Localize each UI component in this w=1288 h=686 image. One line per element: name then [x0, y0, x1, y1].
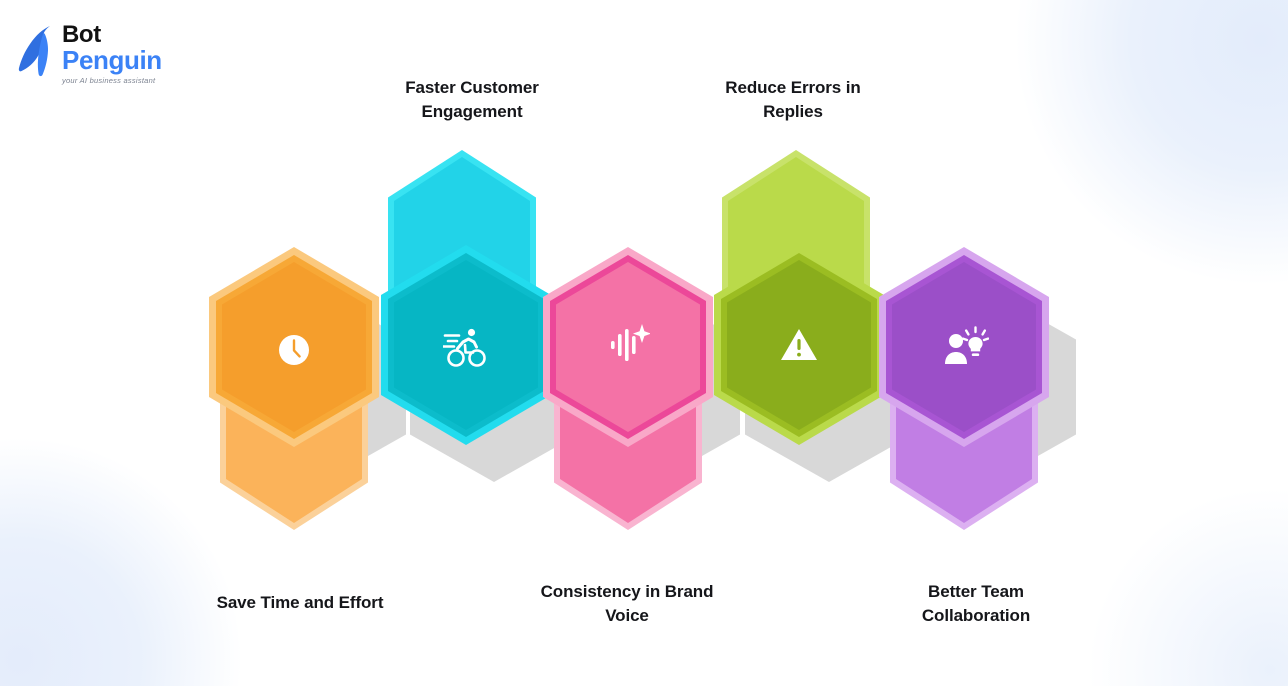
hexagon-cluster: Save Time and Effort Fas — [0, 0, 1288, 686]
benefit-label-team-collaboration: Better Team Collaboration — [886, 580, 1066, 628]
benefit-label-reduce-errors: Reduce Errors in Replies — [703, 76, 883, 124]
benefit-label-save-time: Save Time and Effort — [185, 591, 415, 615]
infographic-canvas: Bot Penguin your AI business assistant S… — [0, 0, 1288, 686]
benefit-label-faster-engagement: Faster Customer Engagement — [382, 76, 562, 124]
benefit-label-brand-voice: Consistency in Brand Voice — [537, 580, 717, 628]
